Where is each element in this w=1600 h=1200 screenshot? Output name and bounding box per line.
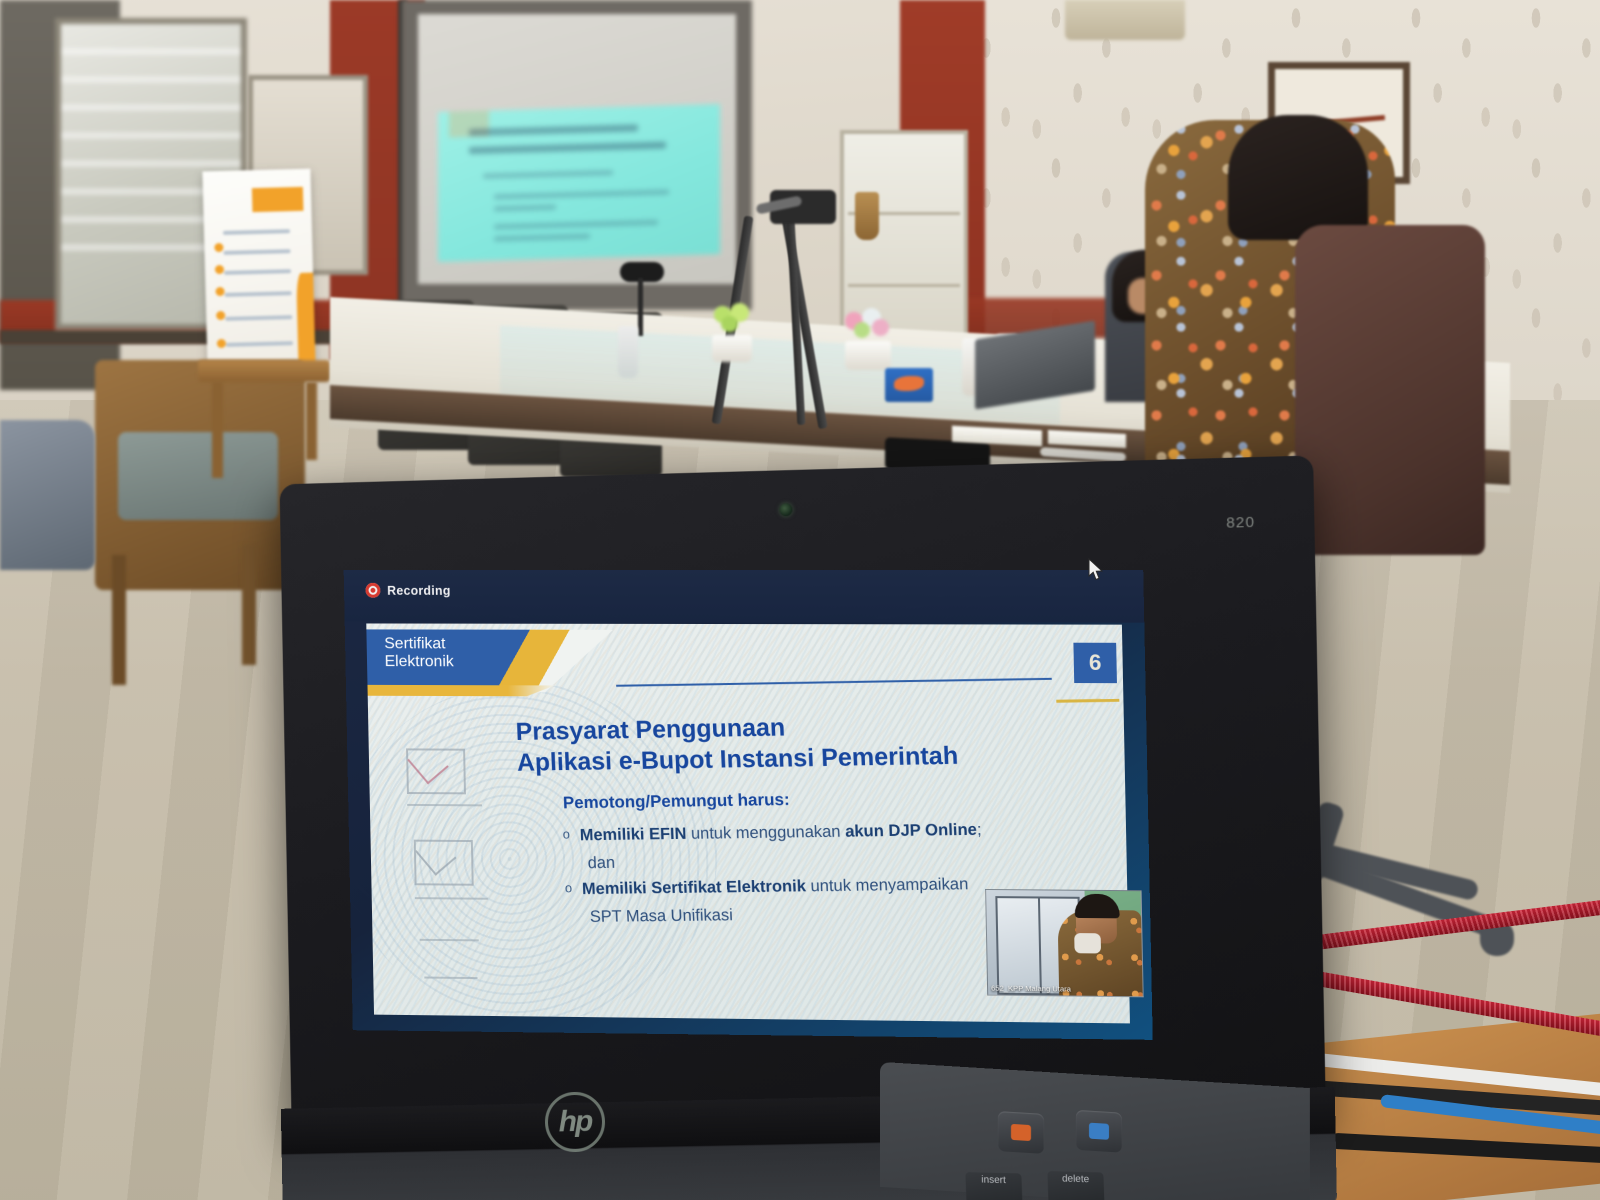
decorative-vase (855, 192, 879, 240)
laptop-model-badge: 820 (1226, 514, 1255, 532)
key-insert[interactable]: insert (965, 1172, 1022, 1200)
checkbox-graphic (406, 748, 466, 794)
power-button[interactable] (998, 1111, 1044, 1154)
bullet-bold-a: Memiliki EFIN (579, 825, 686, 844)
flower-vase (712, 306, 752, 362)
armchair-leg (112, 555, 126, 685)
recording-label: Recording (387, 583, 451, 597)
face-mask-icon (1075, 933, 1102, 953)
recording-bar: Recording (344, 570, 1145, 623)
tissue-box (885, 368, 933, 402)
microphone-stem (638, 278, 643, 336)
bullet-bold-c: Memiliki Sertifikat Elektronik (582, 877, 807, 898)
key-delete[interactable]: delete (1047, 1171, 1104, 1200)
draped-cloth (0, 420, 95, 570)
flower-vase (845, 310, 891, 370)
participant-video-tile[interactable]: 652_KPP Malang Utara (985, 889, 1144, 997)
record-dot-icon (365, 583, 380, 598)
slide-tab-accent (367, 685, 554, 697)
bullet-text: Memiliki Sertifikat Elektronik untuk men… (582, 873, 969, 902)
slide-title: Prasyarat Penggunaan Aplikasi e-Bupot In… (515, 707, 1089, 777)
slide-number-badge: 6 (1073, 643, 1117, 683)
bullet-after-a: ; (977, 821, 982, 839)
slide-tab-line1: Sertifikat (384, 635, 453, 653)
participant-name-label: 652_KPP Malang Utara (991, 984, 1071, 994)
slide-tab-text: Sertifikat Elektronik (384, 635, 454, 671)
side-table (198, 360, 330, 382)
bullet-marker-icon: o (562, 825, 570, 849)
side-table-leg (306, 382, 317, 460)
photo-scene: 820 Recording Sertifikat (0, 0, 1600, 1200)
bullet-text: Memiliki EFIN untuk menggunakan akun DJP… (579, 819, 982, 849)
webcam-icon (779, 503, 792, 516)
wireless-button[interactable] (1076, 1110, 1122, 1153)
projected-slide (438, 104, 720, 262)
bullet-bold-b: akun DJP Online (845, 821, 978, 841)
bullet-marker-icon: o (565, 878, 573, 902)
armchair-cushion (118, 432, 278, 520)
slide-tab-line2: Elektronik (385, 653, 454, 671)
roll-up-banner (202, 169, 315, 372)
armchair-leg (242, 545, 256, 665)
bullet-mid-a: untuk menggunakan (686, 823, 845, 843)
side-table-leg (212, 382, 223, 478)
water-bottle (618, 326, 638, 378)
checkbox-graphic (414, 840, 474, 886)
laptop-screen[interactable]: Recording Sertifikat Elektronik 6 (344, 570, 1153, 1040)
bullet-mid-b: untuk menyampaikan (806, 875, 969, 895)
person-head (1228, 115, 1368, 240)
air-conditioner (1065, 0, 1185, 40)
